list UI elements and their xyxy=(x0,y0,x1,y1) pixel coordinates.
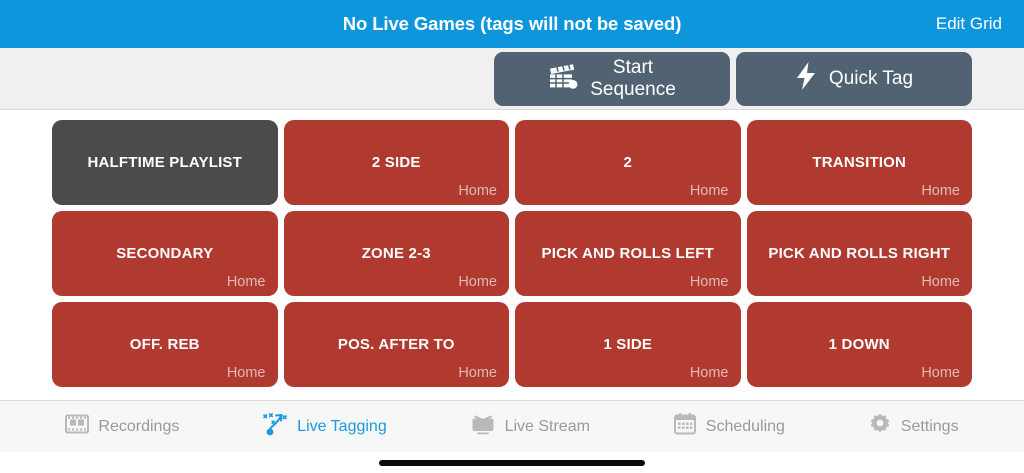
quick-tag-label: Quick Tag xyxy=(829,68,913,90)
bottom-tab-bar: Recordings Live Tagging xyxy=(0,400,1024,452)
tile-team-label: Home xyxy=(921,274,960,290)
tile-team-label: Home xyxy=(458,274,497,290)
tab-settings[interactable]: Settings xyxy=(862,408,965,445)
gear-icon xyxy=(868,412,892,441)
action-toolbar: Start Sequence Quick Tag xyxy=(0,48,1024,110)
playbook-icon xyxy=(262,412,288,441)
tab-label: Recordings xyxy=(98,418,179,436)
edit-grid-button[interactable]: Edit Grid xyxy=(936,14,1002,34)
tag-tile-pos-after-to[interactable]: POS. AFTER TO Home xyxy=(284,302,510,387)
lightning-bolt-icon xyxy=(795,61,817,96)
tile-label: POS. AFTER TO xyxy=(328,336,465,353)
tile-team-label: Home xyxy=(921,365,960,381)
tag-tile-1-down[interactable]: 1 DOWN Home xyxy=(747,302,973,387)
tab-scheduling[interactable]: Scheduling xyxy=(667,408,791,445)
tile-team-label: Home xyxy=(227,365,266,381)
tile-label: PICK AND ROLLS LEFT xyxy=(532,245,724,262)
home-indicator-area xyxy=(0,452,1024,473)
tile-label: ZONE 2-3 xyxy=(352,245,441,262)
tag-grid-row: SECONDARY Home ZONE 2-3 Home PICK AND RO… xyxy=(52,211,972,296)
tile-label: 2 SIDE xyxy=(362,154,431,171)
tile-team-label: Home xyxy=(458,365,497,381)
tile-label: 1 SIDE xyxy=(593,336,662,353)
tag-grid: HALFTIME PLAYLIST 2 SIDE Home 2 Home TRA… xyxy=(0,110,1024,400)
start-sequence-button[interactable]: Start Sequence xyxy=(494,52,730,106)
tag-grid-row: HALFTIME PLAYLIST 2 SIDE Home 2 Home TRA… xyxy=(52,120,972,205)
app-header: No Live Games (tags will not be saved) E… xyxy=(0,0,1024,48)
tag-tile-zone-2-3[interactable]: ZONE 2-3 Home xyxy=(284,211,510,296)
tile-team-label: Home xyxy=(458,183,497,199)
tab-label: Live Stream xyxy=(505,418,590,436)
tag-tile-1-side[interactable]: 1 SIDE Home xyxy=(515,302,741,387)
tile-label: 2 xyxy=(613,154,642,171)
start-sequence-label: Start Sequence xyxy=(590,57,676,101)
tile-team-label: Home xyxy=(690,274,729,290)
tile-team-label: Home xyxy=(921,183,960,199)
tab-label: Settings xyxy=(901,418,959,436)
tile-label: PICK AND ROLLS RIGHT xyxy=(758,245,960,262)
clapperboard-icon xyxy=(548,62,578,95)
app-root: No Live Games (tags will not be saved) E… xyxy=(0,0,1024,473)
tile-label: HALFTIME PLAYLIST xyxy=(77,154,252,171)
page-title: No Live Games (tags will not be saved) xyxy=(343,13,682,35)
tag-tile-off-reb[interactable]: OFF. REB Home xyxy=(52,302,278,387)
tag-tile-pick-and-rolls-right[interactable]: PICK AND ROLLS RIGHT Home xyxy=(747,211,973,296)
tv-icon xyxy=(470,412,496,441)
tag-tile-secondary[interactable]: SECONDARY Home xyxy=(52,211,278,296)
tile-team-label: Home xyxy=(227,274,266,290)
tab-label: Live Tagging xyxy=(297,418,387,436)
tile-team-label: Home xyxy=(690,183,729,199)
tag-tile-2-side[interactable]: 2 SIDE Home xyxy=(284,120,510,205)
film-strip-icon xyxy=(65,413,89,440)
tile-label: 1 DOWN xyxy=(819,336,900,353)
tag-tile-2[interactable]: 2 Home xyxy=(515,120,741,205)
calendar-icon xyxy=(673,412,697,441)
tile-label: SECONDARY xyxy=(106,245,223,262)
quick-tag-button[interactable]: Quick Tag xyxy=(736,52,972,106)
tag-grid-row: OFF. REB Home POS. AFTER TO Home 1 SIDE … xyxy=(52,302,972,387)
tile-team-label: Home xyxy=(690,365,729,381)
tile-label: TRANSITION xyxy=(802,154,916,171)
tile-label: OFF. REB xyxy=(120,336,210,353)
tag-tile-halftime-playlist[interactable]: HALFTIME PLAYLIST xyxy=(52,120,278,205)
tag-tile-transition[interactable]: TRANSITION Home xyxy=(747,120,973,205)
tab-live-stream[interactable]: Live Stream xyxy=(464,408,596,445)
tab-live-tagging[interactable]: Live Tagging xyxy=(256,408,393,445)
home-indicator[interactable] xyxy=(379,460,645,466)
tag-tile-pick-and-rolls-left[interactable]: PICK AND ROLLS LEFT Home xyxy=(515,211,741,296)
tab-recordings[interactable]: Recordings xyxy=(59,409,185,444)
tab-label: Scheduling xyxy=(706,418,785,436)
